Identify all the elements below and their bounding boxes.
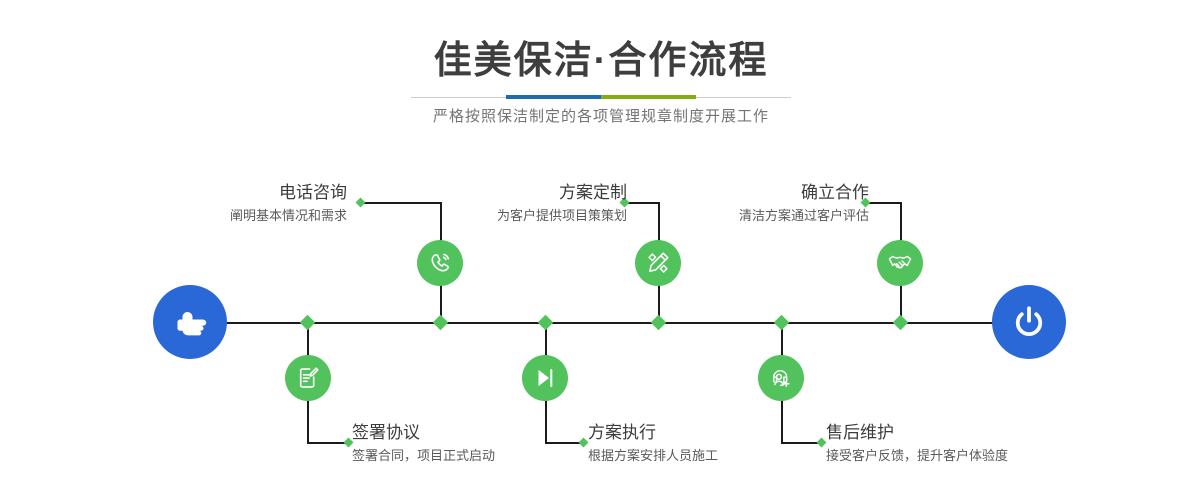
step-desc-4: 根据方案安排人员施工: [588, 446, 718, 466]
divider-segment-green: [601, 95, 696, 99]
step-label-5: 确立合作 清洁方案通过客户评估: [739, 182, 869, 226]
axis-diamond-step-5: [893, 315, 909, 331]
step-title-2: 签署协议: [352, 422, 495, 444]
play-execute-icon: [532, 365, 558, 391]
connector-horizontal-step-1: [361, 202, 441, 204]
step-circle-2: [285, 355, 331, 401]
axis-diamond-step-1: [433, 315, 449, 331]
connector-horizontal-step-2: [307, 442, 348, 444]
step-title-4: 方案执行: [588, 422, 718, 444]
step-circle-5: [877, 240, 923, 286]
step-desc-6: 接受客户反馈，提升客户体验度: [826, 446, 1008, 466]
step-label-1: 电话咨询 阐明基本情况和需求: [230, 182, 347, 226]
connector-horizontal-step-3: [625, 202, 659, 204]
step-desc-3: 为客户提供项目策策划: [497, 206, 627, 226]
document-pen-icon: [295, 365, 321, 391]
page-subtitle: 严格按照保洁制定的各项管理规章制度开展工作: [0, 105, 1202, 129]
timeline-end-node: [992, 285, 1066, 359]
process-timeline: 电话咨询 阐明基本情况和需求 签署协议 签署合同，项目正式启动: [0, 150, 1202, 502]
divider-segment-blue: [506, 95, 601, 99]
title-divider: [411, 95, 791, 99]
timeline-start-node: [153, 285, 227, 359]
axis-diamond-step-3: [651, 315, 667, 331]
step-circle-6: [758, 355, 804, 401]
step-desc-1: 阐明基本情况和需求: [230, 206, 347, 226]
step-circle-1: [417, 240, 463, 286]
pencil-ruler-icon: [645, 250, 671, 276]
page-header: 佳美保洁·合作流程 严格按照保洁制定的各项管理规章制度开展工作: [0, 0, 1202, 150]
step-title-5: 确立合作: [739, 182, 869, 204]
power-icon: [1009, 302, 1049, 342]
page-title: 佳美保洁·合作流程: [0, 38, 1202, 84]
step-title-3: 方案定制: [497, 182, 627, 204]
step-label-6: 售后维护 接受客户反馈，提升客户体验度: [826, 422, 1008, 466]
handshake-icon: [887, 250, 913, 276]
step-circle-4: [522, 355, 568, 401]
connector-horizontal-step-6: [781, 442, 821, 444]
connector-tip-step-4: [579, 438, 589, 448]
timeline-axis: [155, 322, 1047, 324]
axis-diamond-step-6: [774, 315, 790, 331]
step-circle-3: [635, 240, 681, 286]
step-title-1: 电话咨询: [230, 182, 347, 204]
pointing-hand-icon: [170, 302, 210, 342]
step-desc-2: 签署合同，项目正式启动: [352, 446, 495, 466]
step-label-2: 签署协议 签署合同，项目正式启动: [352, 422, 495, 466]
connector-horizontal-step-5: [866, 202, 901, 204]
axis-diamond-step-4: [538, 315, 554, 331]
headset-add-icon: [768, 365, 794, 391]
connector-tip-step-1: [356, 198, 366, 208]
step-label-3: 方案定制 为客户提供项目策策划: [497, 182, 627, 226]
connector-tip-step-6: [817, 438, 827, 448]
step-label-4: 方案执行 根据方案安排人员施工: [588, 422, 718, 466]
axis-diamond-step-2: [300, 315, 316, 331]
phone-call-icon: [427, 250, 453, 276]
step-desc-5: 清洁方案通过客户评估: [739, 206, 869, 226]
step-title-6: 售后维护: [826, 422, 1008, 444]
